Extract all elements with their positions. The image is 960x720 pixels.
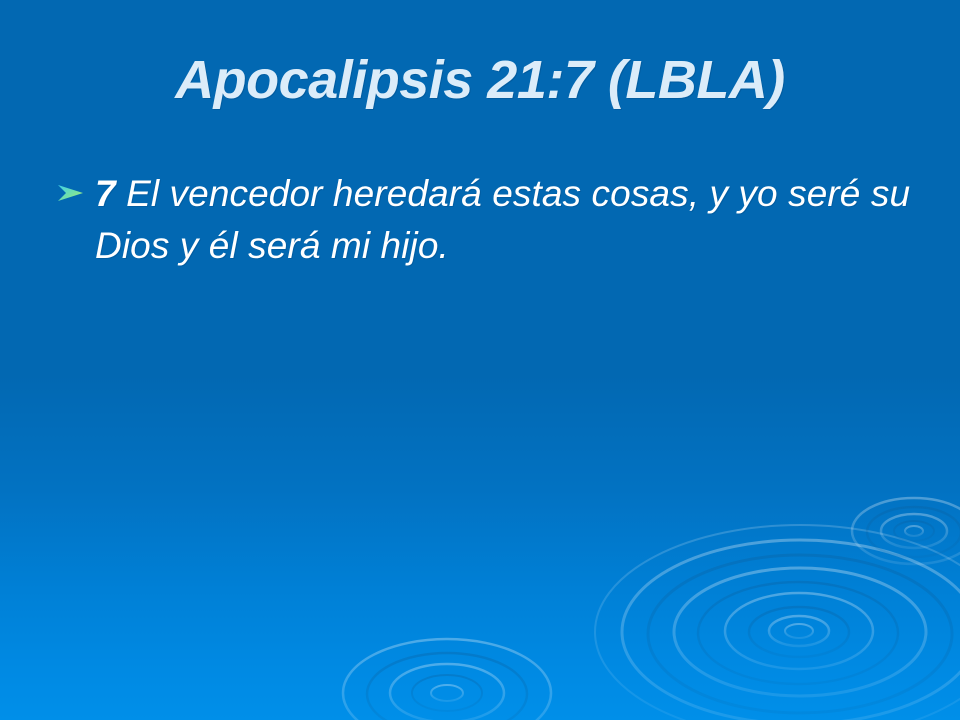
bullet-arrow-icon [57, 181, 85, 205]
list-item: 7 El vencedor heredará estas cosas, y yo… [48, 168, 912, 272]
ripple-large-bottom-right [595, 525, 960, 720]
slide-canvas: Apocalipsis 21:7 (LBLA) 7 El vencedor he… [0, 0, 960, 720]
slide-title-text: Apocalipsis 21:7 (LBLA) [175, 52, 785, 109]
slide-body: 7 El vencedor heredará estas cosas, y yo… [48, 168, 912, 272]
slide-title: Apocalipsis 21:7 (LBLA) [48, 52, 912, 109]
ripple-small-top-right [852, 498, 960, 564]
verse-text: El vencedor heredará estas cosas, y yo s… [95, 173, 910, 266]
verse-number: 7 [95, 173, 116, 214]
ripple-medium-bottom-center [343, 639, 551, 720]
verse-paragraph: 7 El vencedor heredará estas cosas, y yo… [95, 168, 912, 272]
